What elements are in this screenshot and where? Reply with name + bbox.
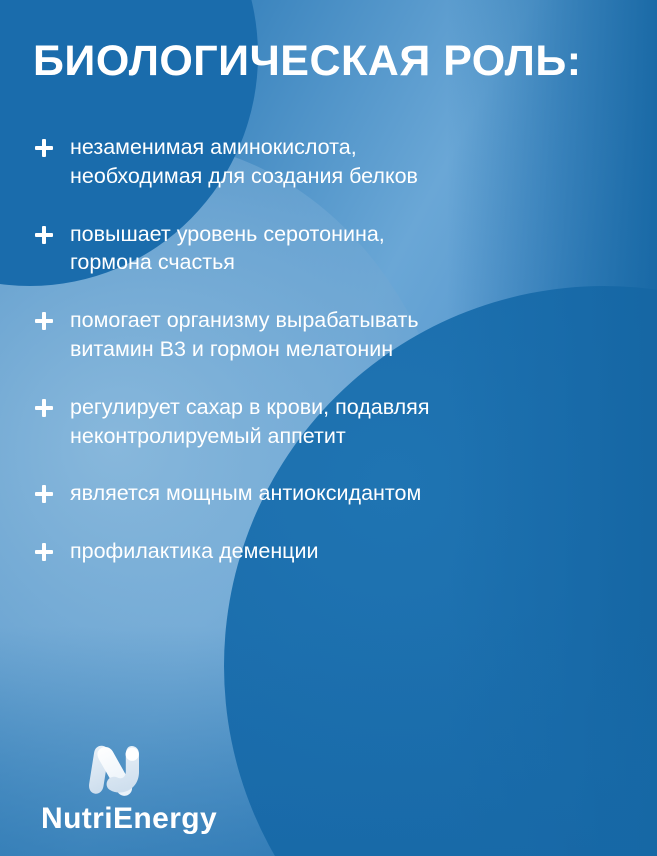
poster-content: БИОЛОГИЧЕСКАЯ РОЛЬ: незаменимая аминокис… — [0, 0, 657, 856]
list-item-label: незаменимая аминокислота, необходимая дл… — [70, 133, 613, 191]
list-item: профилактика деменции — [33, 537, 613, 566]
list-item-label: профилактика деменции — [70, 537, 613, 566]
list-item-label: помогает организму вырабатывать витамин … — [70, 306, 613, 364]
list-item: незаменимая аминокислота, необходимая дл… — [33, 133, 613, 191]
brand-wordmark: NutriEnergy — [41, 804, 241, 834]
nutrienergy-n-mark-icon — [85, 745, 153, 797]
list-item-label: повышает уровень серотонина, гормона сча… — [70, 220, 613, 278]
plus-icon — [33, 482, 55, 508]
plus-icon — [33, 540, 55, 566]
benefits-list: незаменимая аминокислота, необходимая дл… — [33, 133, 613, 595]
plus-icon — [33, 309, 55, 335]
list-item: помогает организму вырабатывать витамин … — [33, 306, 613, 364]
plus-icon — [33, 223, 55, 249]
plus-icon — [33, 396, 55, 422]
list-item: повышает уровень серотонина, гормона сча… — [33, 220, 613, 278]
list-item-label: является мощным антиоксидантом — [70, 479, 613, 508]
poster-canvas: БИОЛОГИЧЕСКАЯ РОЛЬ: незаменимая аминокис… — [0, 0, 657, 856]
list-item-label: регулирует сахар в крови, подавляя некон… — [70, 393, 613, 451]
list-item: является мощным антиоксидантом — [33, 479, 613, 508]
brand-logo: NutriEnergy — [41, 745, 241, 834]
plus-icon — [33, 136, 55, 162]
page-title: БИОЛОГИЧЕСКАЯ РОЛЬ: — [33, 39, 582, 84]
list-item: регулирует сахар в крови, подавляя некон… — [33, 393, 613, 451]
